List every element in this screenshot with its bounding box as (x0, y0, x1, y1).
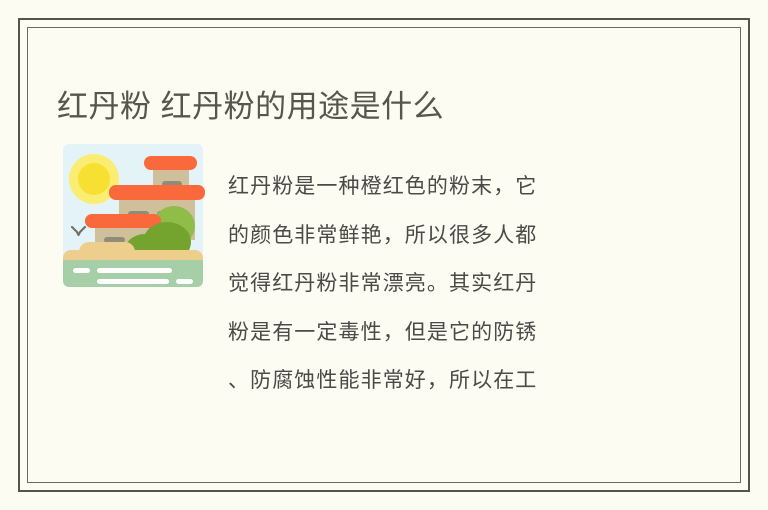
building-back-roof (144, 156, 197, 170)
building-middle-roof (109, 185, 205, 200)
building-front-roof (85, 214, 161, 228)
water-wave-line (97, 279, 169, 284)
body-line: 、防腐蚀性能非常好，所以在工 (228, 356, 650, 405)
article-body-text: 红丹粉是一种橙红色的粉末，它 的颜色非常鲜艳，所以很多人都 觉得红丹粉非常漂亮。… (228, 162, 650, 405)
sun-core-icon (78, 163, 110, 195)
village-landscape-illustration (57, 140, 209, 292)
body-line: 的颜色非常鲜艳，所以很多人都 (228, 211, 650, 260)
water-wave-line (97, 268, 172, 273)
article-page: 红丹粉 红丹粉的用途是什么 红丹粉是一种橙红色的粉末，它 的颜色非常鲜艳， (0, 0, 768, 510)
body-line: 红丹粉是一种橙红色的粉末，它 (228, 162, 650, 211)
page-title: 红丹粉 红丹粉的用途是什么 (57, 85, 444, 129)
water-wave-line (176, 279, 193, 284)
water-wave-line (73, 268, 90, 273)
body-line: 觉得红丹粉非常漂亮。其实红丹 (228, 259, 650, 308)
bird-icon (71, 226, 87, 236)
body-line: 粉是有一定毒性，但是它的防锈 (228, 308, 650, 357)
